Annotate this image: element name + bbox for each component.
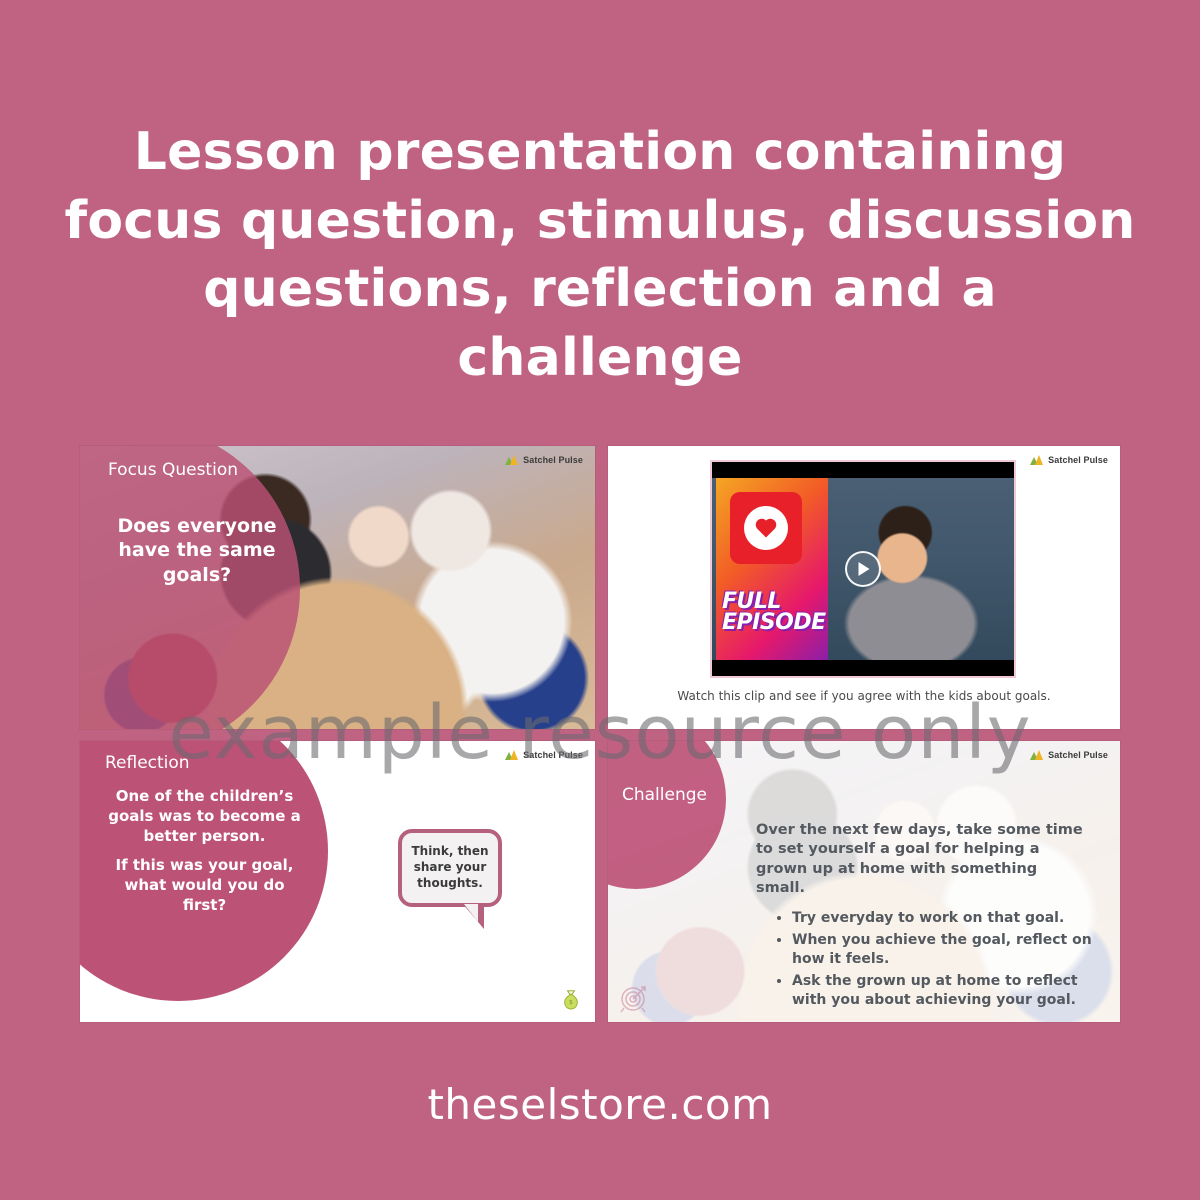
full-episode-line-1: FULL bbox=[722, 591, 826, 613]
reflection-paragraph-2: If this was your goal, what would you do… bbox=[102, 856, 307, 915]
slide-kicker: Focus Question bbox=[108, 460, 238, 480]
speech-bubble: Think, then share your thoughts. bbox=[398, 829, 502, 907]
slide-stimulus[interactable]: Satchel Pulse FULL EPISODE Watch bbox=[608, 446, 1120, 729]
reflection-body: One of the children’s goals was to becom… bbox=[102, 787, 307, 926]
logo-text: Satchel Pulse bbox=[1048, 455, 1108, 465]
broadcaster-logo-icon bbox=[730, 492, 802, 564]
promo-graphic: Lesson presentation containing focus que… bbox=[0, 0, 1200, 1200]
satchel-pulse-logo: Satchel Pulse bbox=[1030, 455, 1108, 465]
mountain-icon bbox=[1030, 455, 1044, 465]
page-title-line-3: questions, reflection and a challenge bbox=[60, 255, 1140, 392]
list-item: When you achieve the goal, reflect on ho… bbox=[792, 931, 1110, 969]
page-title-line-2: focus question, stimulus, discussion bbox=[60, 187, 1140, 256]
page-title: Lesson presentation containing focus que… bbox=[60, 118, 1140, 393]
full-episode-label: FULL EPISODE bbox=[722, 591, 826, 634]
slide-grid: Satchel Pulse Focus Question Does everyo… bbox=[80, 446, 1120, 1022]
speech-bubble-tail bbox=[462, 903, 484, 929]
mountain-icon bbox=[1030, 750, 1044, 760]
slide-kicker: Reflection bbox=[105, 753, 190, 773]
svg-text:$: $ bbox=[569, 1000, 573, 1006]
stimulus-caption: Watch this clip and see if you agree wit… bbox=[622, 689, 1106, 703]
footer-site-url: theselstore.com bbox=[0, 1080, 1200, 1129]
money-bag-icon: $ bbox=[561, 988, 581, 1012]
slide-reflection[interactable]: Satchel Pulse Reflection One of the chil… bbox=[80, 741, 595, 1022]
full-episode-badge: FULL EPISODE bbox=[716, 478, 828, 660]
video-thumbnail[interactable]: FULL EPISODE bbox=[710, 460, 1016, 678]
list-item: Try everyday to work on that goal. bbox=[792, 909, 1110, 928]
challenge-bullet-list: Try everyday to work on that goal. When … bbox=[774, 909, 1110, 1012]
logo-text: Satchel Pulse bbox=[523, 750, 583, 760]
speech-bubble-text: Think, then share your thoughts. bbox=[402, 833, 498, 903]
slide-challenge[interactable]: Satchel Pulse Challenge Over the next fe… bbox=[608, 741, 1120, 1022]
focus-question-text: Does everyone have the same goals? bbox=[102, 514, 292, 587]
target-icon bbox=[618, 980, 652, 1014]
mountain-icon bbox=[505, 750, 519, 760]
mountain-icon bbox=[505, 455, 519, 465]
satchel-pulse-logo: Satchel Pulse bbox=[505, 750, 583, 760]
slide-kicker: Challenge bbox=[622, 785, 707, 805]
page-title-line-1: Lesson presentation containing bbox=[60, 118, 1140, 187]
satchel-pulse-logo: Satchel Pulse bbox=[1030, 750, 1108, 760]
slide-focus-question[interactable]: Satchel Pulse Focus Question Does everyo… bbox=[80, 446, 595, 729]
play-icon[interactable] bbox=[845, 551, 881, 587]
satchel-pulse-logo: Satchel Pulse bbox=[505, 455, 583, 465]
full-episode-line-2: EPISODE bbox=[722, 612, 826, 634]
logo-text: Satchel Pulse bbox=[1048, 750, 1108, 760]
challenge-intro: Over the next few days, take some time t… bbox=[756, 821, 1086, 899]
logo-text: Satchel Pulse bbox=[523, 455, 583, 465]
list-item: Ask the grown up at home to reflect with… bbox=[792, 972, 1110, 1010]
reflection-paragraph-1: One of the children’s goals was to becom… bbox=[102, 787, 307, 846]
